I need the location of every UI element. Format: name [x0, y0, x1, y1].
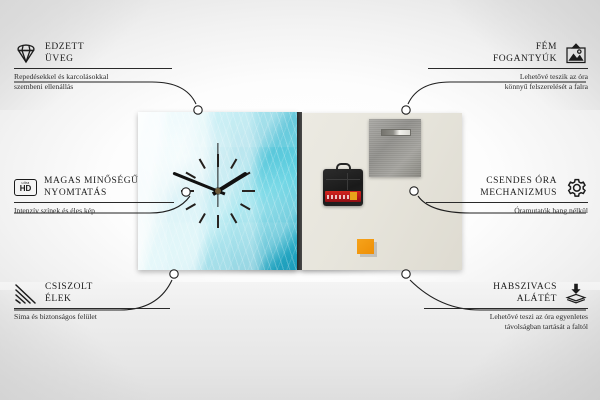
callout-divider [14, 308, 170, 309]
callout-subtitle: Lehetővé teszi az óra egyenletes távolsá… [424, 312, 588, 331]
subtitle-line-1: Sima és biztonságos felület [14, 312, 170, 322]
callout-tempered-glass: EDZETT ÜVEG Repedésekkel és karcolásokka… [14, 42, 172, 91]
callout-silent-mechanism: CSENDES ÓRA MECHANIZMUS Óramutatók hang … [426, 176, 588, 216]
clock-hub [215, 188, 221, 194]
callout-title: HABSZIVACS ALÁTÉT [493, 282, 557, 305]
callout-divider [424, 308, 588, 309]
clock-tick-mark [242, 190, 255, 192]
callout-divider [14, 68, 172, 69]
callout-subtitle: Intenzív színek és éles kép [14, 206, 174, 216]
callout-metal-handles: FÉM FOGANTYÚK Lehetővé teszik az óra kön… [428, 42, 588, 91]
callout-header: FÉM FOGANTYÚK [428, 42, 588, 65]
callout-title: FÉM FOGANTYÚK [493, 42, 557, 65]
callout-title: CSENDES ÓRA MECHANIZMUS [480, 176, 557, 199]
picture-hanger-icon [564, 43, 588, 64]
clock-tick-mark [230, 158, 237, 169]
subtitle-line-2: távolságban tartását a faltól [424, 322, 588, 332]
subtitle-line-1: Óramutatók hang nélkül [426, 206, 588, 216]
clock-tick-mark [230, 213, 237, 224]
mechanism-hanger-loop [336, 163, 351, 172]
hanger-slot [381, 129, 411, 136]
callout-foam-pad: HABSZIVACS ALÁTÉT Lehetővé teszi az óra … [424, 282, 588, 331]
title-line-2: ALÁTÉT [493, 294, 557, 306]
callout-header: EDZETT ÜVEG [14, 42, 172, 65]
callout-header: ultra HD MAGAS MINŐSÉGŰ NYOMTATÁS [14, 176, 174, 199]
callout-divider [428, 68, 588, 69]
title-line-2: MECHANIZMUS [480, 188, 557, 200]
hanger-texture [369, 119, 421, 177]
title-line-1: HABSZIVACS [493, 282, 557, 294]
title-line-1: CSISZOLT [45, 282, 93, 294]
clock-tick-mark [240, 203, 251, 210]
subtitle-line-1: Repedésekkel és karcolásokkal [14, 72, 172, 82]
callout-header: CSISZOLT ÉLEK [14, 282, 170, 305]
subtitle-line-1: Lehetővé teszik az óra [428, 72, 588, 82]
callout-hd-print: ultra HD MAGAS MINŐSÉGŰ NYOMTATÁS Intenz… [14, 176, 174, 216]
subtitle-line-2: könnyű felszerelését a falra [428, 82, 588, 92]
title-line-1: CSENDES ÓRA [480, 176, 557, 188]
title-line-1: MAGAS MINŐSÉGŰ [44, 176, 139, 188]
ultra-hd-icon: ultra HD [14, 179, 37, 196]
battery-plus-terminal [350, 192, 357, 200]
diagonal-lines-icon [14, 283, 38, 304]
callout-polished-edges: CSISZOLT ÉLEK Sima és biztonságos felüle… [14, 282, 170, 322]
product-group [138, 112, 462, 272]
callout-subtitle: Repedésekkel és karcolásokkal szembeni e… [14, 72, 172, 91]
gear-icon [564, 177, 588, 198]
press-pad-icon [564, 283, 588, 304]
diamond-icon [14, 43, 38, 64]
mechanism-seam [326, 179, 360, 180]
callout-title: EDZETT ÜVEG [45, 42, 84, 65]
title-line-2: NYOMTATÁS [44, 188, 139, 200]
subtitle-line-1: Lehetővé teszi az óra egyenletes [424, 312, 588, 322]
mechanism-seam-vertical [347, 173, 348, 190]
clock-mechanism [323, 169, 363, 206]
title-line-2: ÉLEK [45, 294, 93, 306]
callout-subtitle: Sima és biztonságos felület [14, 312, 170, 322]
callout-divider [426, 202, 588, 203]
callout-title: MAGAS MINŐSÉGŰ NYOMTATÁS [44, 176, 139, 199]
subtitle-line-2: szembeni ellenállás [14, 82, 172, 92]
callout-title: CSISZOLT ÉLEK [45, 282, 93, 305]
title-line-2: ÜVEG [45, 54, 84, 66]
callout-subtitle: Lehetővé teszik az óra könnyű felszerelé… [428, 72, 588, 91]
subtitle-line-1: Intenzív színek és éles kép [14, 206, 174, 216]
metal-hanger-plate [369, 119, 421, 177]
callout-subtitle: Óramutatók hang nélkül [426, 206, 588, 216]
title-line-1: FÉM [493, 42, 557, 54]
battery-label [327, 195, 349, 199]
title-line-2: FOGANTYÚK [493, 54, 557, 66]
glass-edge [297, 112, 302, 270]
title-line-1: EDZETT [45, 42, 84, 54]
callout-header: CSENDES ÓRA MECHANIZMUS [426, 176, 588, 199]
second-hand [217, 143, 218, 207]
callout-divider [14, 202, 174, 203]
hd-label: HD [20, 185, 32, 193]
infographic-canvas: EDZETT ÜVEG Repedésekkel és karcolásokka… [0, 0, 600, 400]
foam-pad [357, 239, 374, 254]
callout-header: HABSZIVACS ALÁTÉT [424, 282, 588, 305]
battery [325, 191, 361, 202]
